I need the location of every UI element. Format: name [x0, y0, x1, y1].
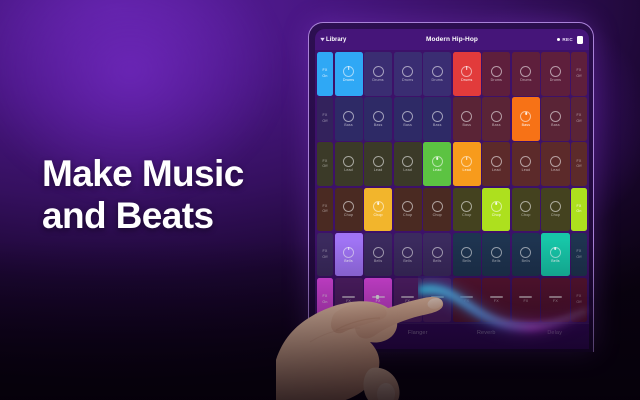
knob-icon [373, 201, 384, 212]
pad-chop-row-4[interactable]: Chop [423, 188, 451, 232]
fx-toggle-right-bells-row[interactable]: FXOff [571, 233, 587, 277]
fader-icon [372, 296, 385, 298]
lead-row: FXOffLeadLeadLeadLeadLeadLeadLeadLeadFXO… [317, 142, 587, 186]
fx-state: Off [322, 256, 327, 260]
pad-label: Bass [344, 123, 353, 127]
pad-bells-row-5[interactable]: Bells [453, 233, 481, 277]
knob-icon [432, 111, 443, 122]
knob-icon [461, 111, 472, 122]
knob-icon [402, 66, 413, 77]
pad-drums-row-6[interactable]: Drums [482, 52, 510, 96]
pad-fx-row-7[interactable]: FX [512, 278, 540, 322]
project-title: Modern Hip-Hop [395, 36, 509, 43]
fx-state: On [576, 210, 581, 214]
fx-toggle-left-chop-row[interactable]: FXOff [317, 188, 333, 232]
fader-icon [401, 296, 414, 298]
record-label: REC [562, 37, 573, 42]
pad-label: Chop [433, 213, 442, 217]
pad-bells-row-1[interactable]: Bells [335, 233, 363, 277]
pad-label: FX [553, 299, 558, 303]
fx-toggle-right-chop-row[interactable]: FXOn [571, 188, 587, 232]
pad-label: Drums [432, 78, 443, 82]
knob-icon [491, 111, 502, 122]
fx-state: Off [576, 256, 581, 260]
fader-icon [460, 296, 473, 298]
pad-chop-row-8[interactable]: Chop [541, 188, 569, 232]
pad-bells-row-4[interactable]: Bells [423, 233, 451, 277]
pad-label: FX [464, 299, 469, 303]
knob-icon [461, 247, 472, 258]
pad-label: Bells [433, 259, 442, 263]
knob-icon [461, 201, 472, 212]
pad-drums-row-7[interactable]: Drums [512, 52, 540, 96]
fx-toggle-left-fx-row[interactable]: FXOn [317, 278, 333, 322]
tab-filter[interactable]: Filter [315, 330, 384, 341]
fx-row: FXOnFXFXFXFXFXFXFXFXFXOff [317, 278, 587, 322]
pad-label: Bass [462, 123, 471, 127]
effect-tab-bar[interactable]: FilterFlangerReverbDelay [315, 323, 589, 349]
knob-icon [373, 156, 384, 167]
chop-row: FXOffChopChopChopChopChopChopChopChopFXO… [317, 188, 587, 232]
pad-label: Lead [462, 168, 471, 172]
pad-chop-row-2[interactable]: Chop [364, 188, 392, 232]
tab-flanger[interactable]: Flanger [384, 330, 453, 341]
knob-icon [520, 156, 531, 167]
pad-bass-row-4[interactable]: Bass [423, 97, 451, 141]
pad-label: FX [376, 299, 381, 303]
fx-toggle-left-lead-row[interactable]: FXOff [317, 142, 333, 186]
fx-label: FX [323, 69, 328, 73]
fader-icon [431, 296, 444, 298]
pad-label: Lead [433, 168, 442, 172]
knob-icon [402, 111, 413, 122]
fx-state: On [322, 301, 327, 305]
pad-label: Bass [551, 123, 560, 127]
knob-icon [402, 156, 413, 167]
knob-icon [432, 66, 443, 77]
tablet-device: ▾ Library Modern Hip-Hop REC FXOnDrumsDr… [308, 22, 594, 352]
pad-label: Lead [374, 168, 383, 172]
pad-bells-row-2[interactable]: Bells [364, 233, 392, 277]
knob-icon [343, 111, 354, 122]
knob-icon [373, 66, 384, 77]
fx-toggle-right-lead-row[interactable]: FXOff [571, 142, 587, 186]
pad-label: Drums [520, 78, 531, 82]
pad-bass-row-8[interactable]: Bass [541, 97, 569, 141]
pad-drums-row-2[interactable]: Drums [364, 52, 392, 96]
knob-icon [491, 156, 502, 167]
pad-lead-row-7[interactable]: Lead [512, 142, 540, 186]
knob-icon [343, 247, 354, 258]
pad-label: Lead [551, 168, 560, 172]
pad-label: Drums [461, 78, 472, 82]
pad-label: FX [523, 299, 528, 303]
pad-label: Bass [403, 123, 412, 127]
tablet-screen: ▾ Library Modern Hip-Hop REC FXOnDrumsDr… [315, 29, 589, 349]
app-header: ▾ Library Modern Hip-Hop REC [315, 29, 589, 50]
pad-label: FX [494, 299, 499, 303]
fx-state: Off [576, 165, 581, 169]
pad-fx-row-2[interactable]: FX [364, 278, 392, 322]
knob-icon [432, 156, 443, 167]
pad-label: Drums [491, 78, 502, 82]
pad-drums-row-3[interactable]: Drums [394, 52, 422, 96]
fader-icon [490, 296, 503, 298]
fader-icon [549, 296, 562, 298]
pad-label: Drums [550, 78, 561, 82]
pad-fx-row-5[interactable]: FX [453, 278, 481, 322]
knob-icon [550, 247, 561, 258]
pad-chop-row-7[interactable]: Chop [512, 188, 540, 232]
fx-state: Off [576, 75, 581, 79]
pad-lead-row-1[interactable]: Lead [335, 142, 363, 186]
library-button[interactable]: ▾ Library [321, 37, 395, 43]
pad-label: Lead [403, 168, 412, 172]
pad-label: Chop [521, 213, 530, 217]
fx-state: On [322, 75, 327, 79]
knob-icon [491, 247, 502, 258]
fx-state: Off [576, 120, 581, 124]
pad-lead-row-4[interactable]: Lead [423, 142, 451, 186]
pad-drums-row-5[interactable]: Drums [453, 52, 481, 96]
fx-label: FX [323, 295, 328, 299]
pad-label: Bells [403, 259, 412, 263]
knob-icon [432, 247, 443, 258]
chevron-down-icon: ▾ [321, 37, 325, 43]
pad-bass-row-5[interactable]: Bass [453, 97, 481, 141]
fx-state: Off [322, 165, 327, 169]
pad-grid[interactable]: FXOnDrumsDrumsDrumsDrumsDrumsDrumsDrumsD… [315, 50, 589, 323]
pad-label: Lead [492, 168, 501, 172]
knob-icon [343, 201, 354, 212]
pad-label: FX [405, 299, 410, 303]
fx-toggle-right-bass-row[interactable]: FXOff [571, 97, 587, 141]
fx-state: Off [576, 301, 581, 305]
pad-bells-row-3[interactable]: Bells [394, 233, 422, 277]
volume-down-button[interactable] [593, 111, 594, 141]
fx-toggle-right-fx-row[interactable]: FXOff [571, 278, 587, 322]
pad-label: Bass [492, 123, 501, 127]
fader-icon [519, 296, 532, 298]
pad-label: Chop [403, 213, 412, 217]
fx-label: FX [577, 295, 582, 299]
knob-icon [402, 201, 413, 212]
fx-toggle-left-drums-row[interactable]: FXOn [317, 52, 333, 96]
pad-label: FX [346, 299, 351, 303]
pad-drums-row-4[interactable]: Drums [423, 52, 451, 96]
fx-toggle-left-bass-row[interactable]: FXOff [317, 97, 333, 141]
fx-label: FX [323, 205, 328, 209]
promo-banner: Make Music and Beats ▾ Library Modern Hi… [0, 0, 640, 400]
pad-label: Bells [492, 259, 501, 263]
pad-lead-row-6[interactable]: Lead [482, 142, 510, 186]
pad-label: Bass [374, 123, 383, 127]
pad-label: Bells [551, 259, 560, 263]
knob-icon [520, 201, 531, 212]
pad-label: Bells [522, 259, 531, 263]
pad-fx-row-4[interactable]: FX [423, 278, 451, 322]
bells-row: FXOffBellsBellsBellsBellsBellsBellsBells… [317, 233, 587, 277]
knob-icon [373, 247, 384, 258]
fx-label: FX [577, 205, 582, 209]
fx-label: FX [323, 114, 328, 118]
pad-label: Bass [522, 123, 531, 127]
record-dot-icon [557, 38, 560, 41]
library-label: Library [326, 37, 346, 43]
pad-bells-row-7[interactable]: Bells [512, 233, 540, 277]
pad-label: Chop [462, 213, 471, 217]
record-button[interactable]: REC [557, 37, 573, 42]
stop-square-icon[interactable] [577, 36, 583, 44]
pad-label: Chop [373, 213, 382, 217]
pad-label: Chop [551, 213, 560, 217]
pad-bells-row-8[interactable]: Bells [541, 233, 569, 277]
fx-label: FX [577, 160, 582, 164]
knob-icon [491, 201, 502, 212]
pad-label: Drums [372, 78, 383, 82]
fx-label: FX [577, 250, 582, 254]
pad-lead-row-3[interactable]: Lead [394, 142, 422, 186]
knob-icon [373, 111, 384, 122]
drums-row: FXOnDrumsDrumsDrumsDrumsDrumsDrumsDrumsD… [317, 52, 587, 96]
knob-icon [550, 156, 561, 167]
pad-bass-row-7[interactable]: Bass [512, 97, 540, 141]
knob-icon [461, 156, 472, 167]
pad-label: Drums [402, 78, 413, 82]
knob-icon [432, 201, 443, 212]
knob-icon [520, 247, 531, 258]
fx-toggle-right-drums-row[interactable]: FXOff [571, 52, 587, 96]
knob-icon [550, 201, 561, 212]
fx-label: FX [577, 114, 582, 118]
fx-state: Off [322, 210, 327, 214]
fx-state: Off [322, 120, 327, 124]
pad-label: Bells [344, 259, 353, 263]
pad-label: Chop [344, 213, 353, 217]
pad-label: Bells [374, 259, 383, 263]
pad-chop-row-3[interactable]: Chop [394, 188, 422, 232]
knob-icon [402, 247, 413, 258]
pad-lead-row-8[interactable]: Lead [541, 142, 569, 186]
pad-bass-row-1[interactable]: Bass [335, 97, 363, 141]
pad-label: Bass [433, 123, 442, 127]
pad-bass-row-2[interactable]: Bass [364, 97, 392, 141]
fx-label: FX [323, 160, 328, 164]
pad-label: Bells [463, 259, 472, 263]
pad-label: Chop [492, 213, 501, 217]
tab-delay[interactable]: Delay [521, 330, 590, 341]
pad-fx-row-3[interactable]: FX [394, 278, 422, 322]
volume-up-button[interactable] [593, 81, 594, 100]
pad-drums-row-1[interactable]: Drums [335, 52, 363, 96]
pad-bass-row-6[interactable]: Bass [482, 97, 510, 141]
pad-drums-row-8[interactable]: Drums [541, 52, 569, 96]
fx-label: FX [577, 69, 582, 73]
pad-lead-row-2[interactable]: Lead [364, 142, 392, 186]
fx-label: FX [323, 250, 328, 254]
pad-fx-row-1[interactable]: FX [335, 278, 363, 322]
knob-icon [550, 111, 561, 122]
knob-icon [491, 66, 502, 77]
bass-row: FXOffBassBassBassBassBassBassBassBassFXO… [317, 97, 587, 141]
pad-fx-row-6[interactable]: FX [482, 278, 510, 322]
pad-chop-row-1[interactable]: Chop [335, 188, 363, 232]
tab-reverb[interactable]: Reverb [452, 330, 521, 341]
pad-bass-row-3[interactable]: Bass [394, 97, 422, 141]
pad-label: Lead [344, 168, 353, 172]
pad-chop-row-5[interactable]: Chop [453, 188, 481, 232]
fx-toggle-left-bells-row[interactable]: FXOff [317, 233, 333, 277]
knob-icon [343, 156, 354, 167]
pad-bells-row-6[interactable]: Bells [482, 233, 510, 277]
knob-icon [520, 66, 531, 77]
fader-icon [342, 296, 355, 298]
page-title: Make Music and Beats [42, 153, 244, 237]
knob-icon [550, 66, 561, 77]
knob-icon [520, 111, 531, 122]
knob-icon [461, 66, 472, 77]
pad-fx-row-8[interactable]: FX [541, 278, 569, 322]
pad-label: FX [435, 299, 440, 303]
pad-label: Drums [343, 78, 354, 82]
pad-chop-row-6[interactable]: Chop [482, 188, 510, 232]
pad-lead-row-5[interactable]: Lead [453, 142, 481, 186]
pad-label: Lead [522, 168, 531, 172]
knob-icon [343, 66, 354, 77]
